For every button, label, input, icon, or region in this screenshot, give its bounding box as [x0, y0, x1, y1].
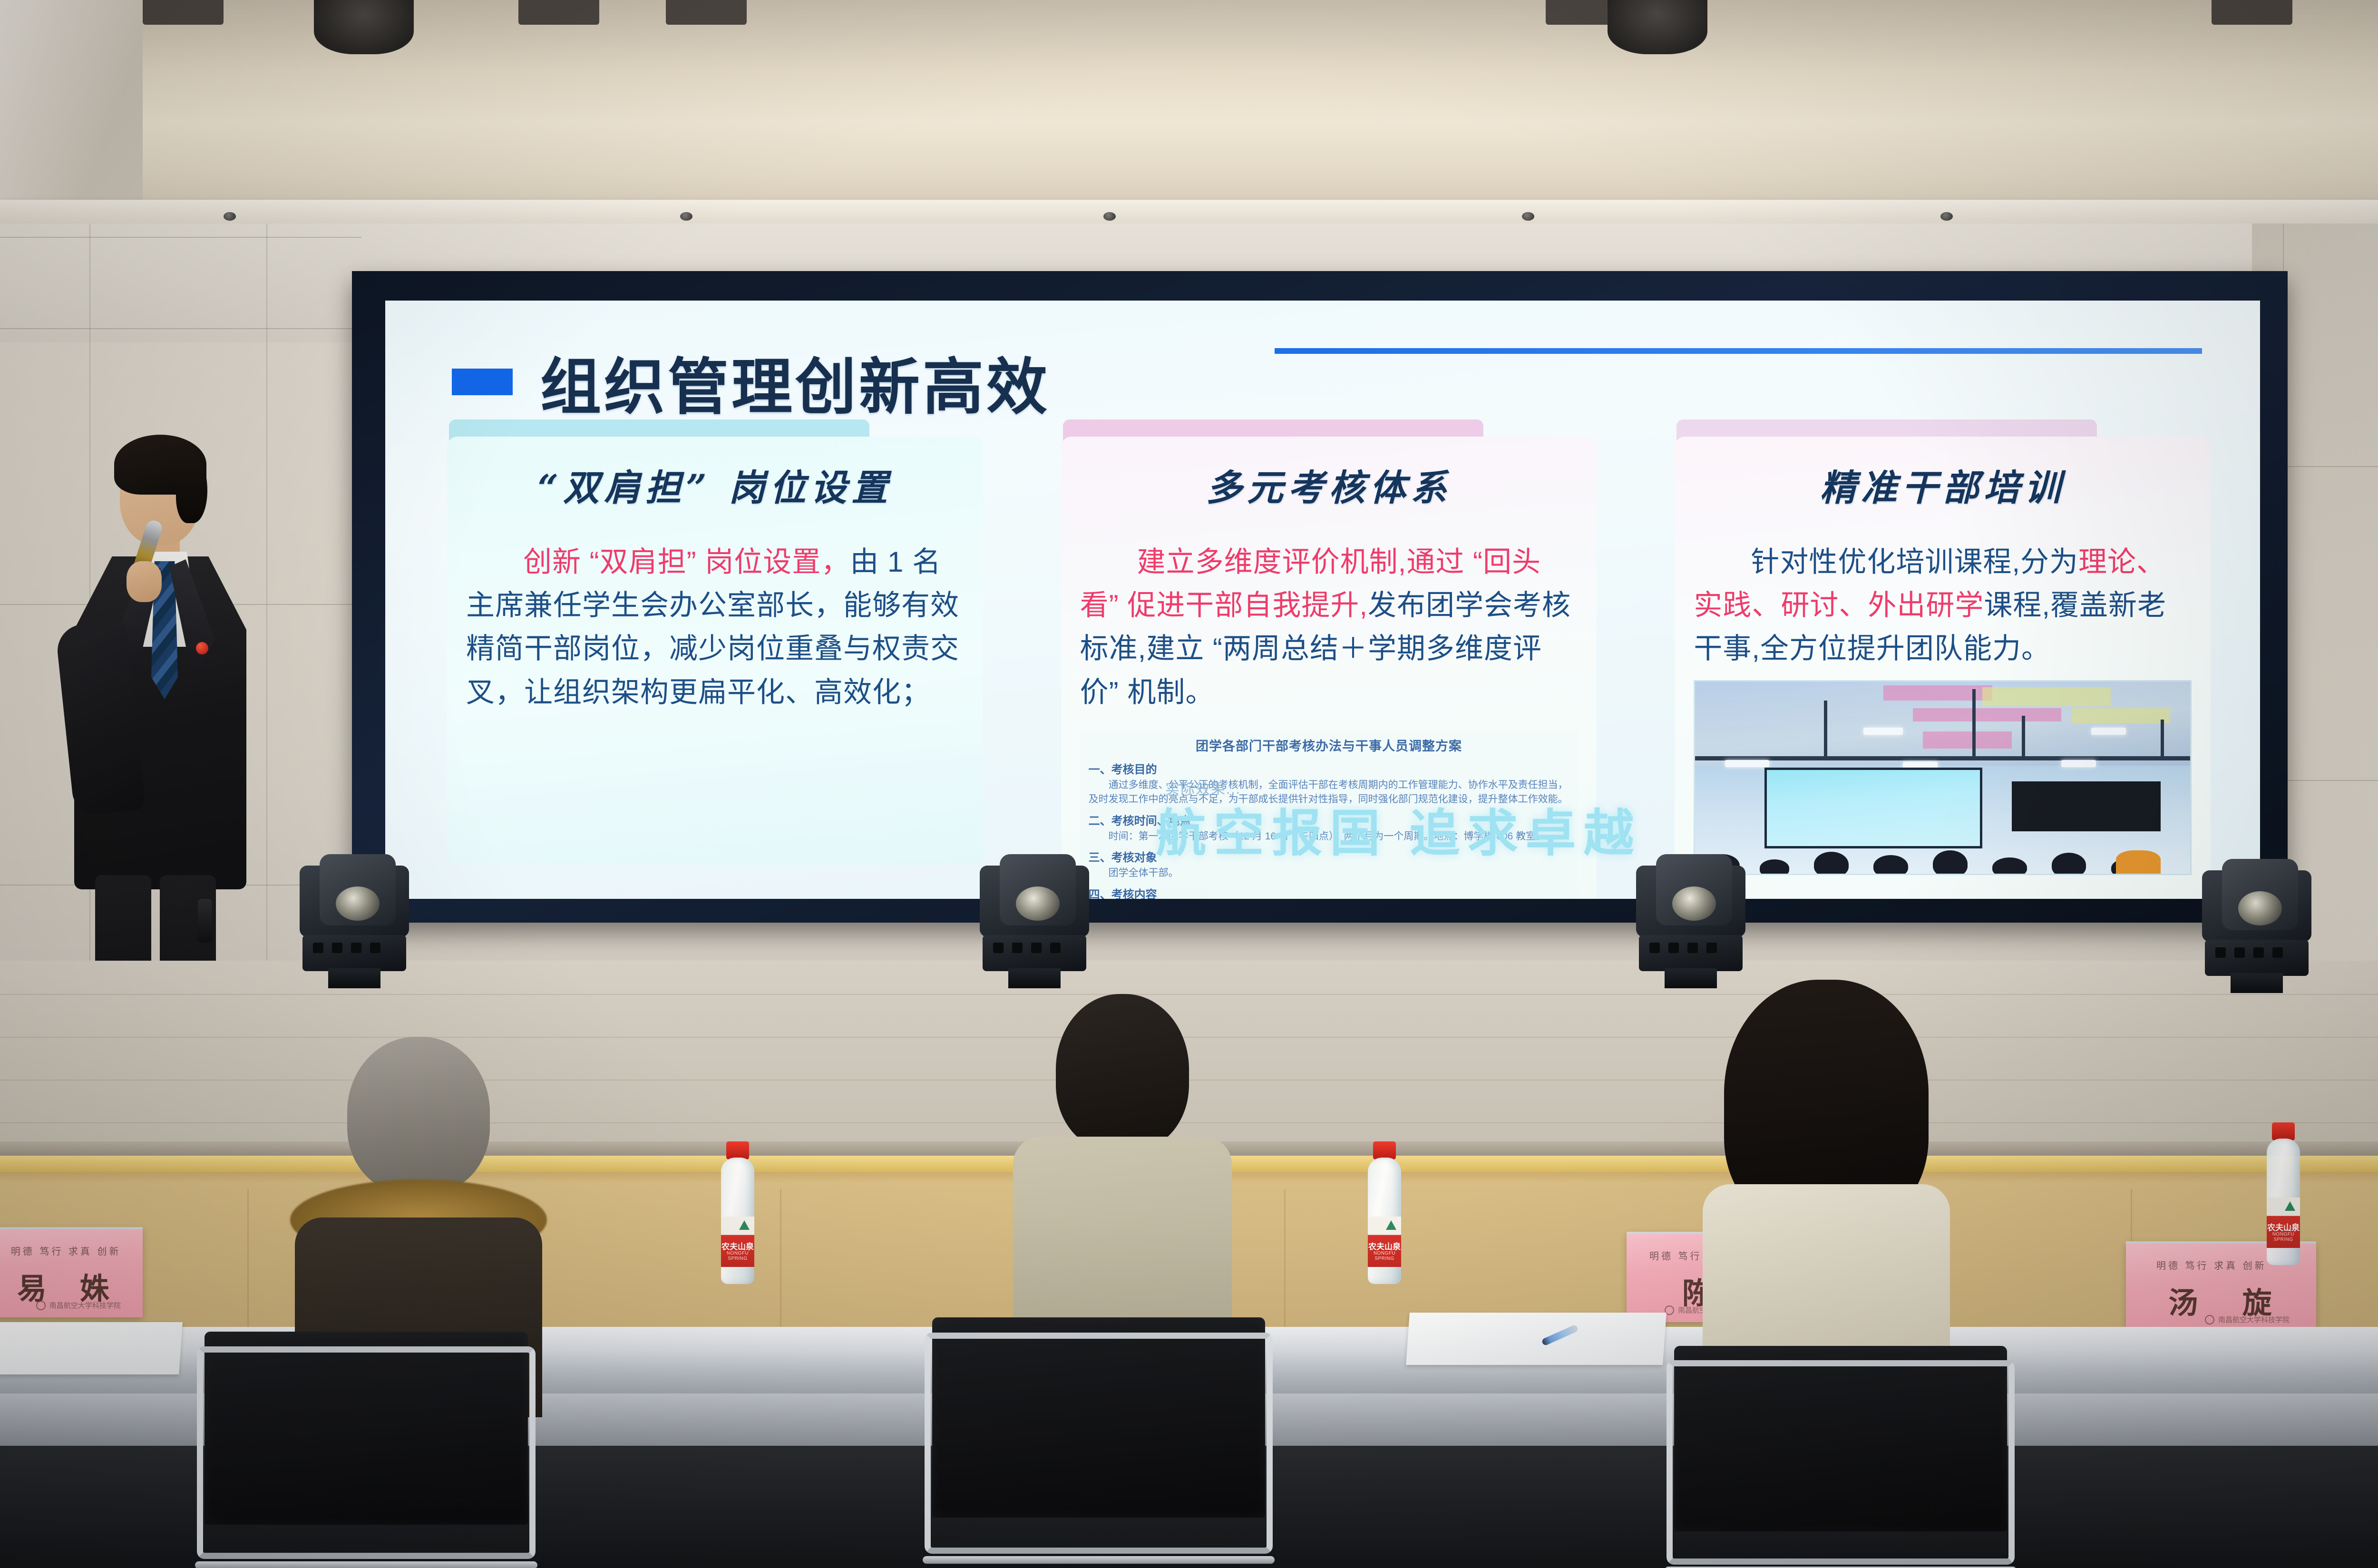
light-vent — [370, 943, 380, 953]
slide-title: 组织管理创新高效 — [540, 338, 1050, 426]
wood-grain — [247, 1189, 249, 1327]
light-base — [2205, 940, 2309, 976]
light-vent — [313, 943, 323, 953]
photo-ceiling-pipe — [2022, 716, 2025, 758]
bottle-cap — [726, 1141, 749, 1159]
wall-seam — [266, 224, 267, 965]
light-lens-icon — [2238, 891, 2282, 925]
light-base — [1639, 935, 1743, 971]
stage-light-2 — [975, 847, 1094, 989]
bottle-brand: 农夫山泉 — [2267, 1221, 2300, 1233]
chair-1[interactable] — [205, 1332, 528, 1568]
photo-head — [1992, 857, 2027, 875]
bottle-brand: 农夫山泉 — [1368, 1240, 1401, 1252]
slide-title-row: 组织管理创新高效 — [452, 338, 1050, 426]
spare-microphone-icon — [198, 899, 212, 943]
bottle-cap — [1373, 1141, 1396, 1159]
photo-ceiling-panel — [2071, 708, 2170, 723]
recessed-downlight-icon — [1103, 212, 1116, 221]
slide-card-3: 精准干部培训 针对性优化培训课程,分为理论、实践、研讨、外出研学课程,覆盖新老干… — [1658, 419, 2227, 899]
photo-fluorescent-tube — [2061, 760, 2096, 767]
water-bottle-3: 农夫山泉 NONGFU SPRING — [2264, 1122, 2303, 1265]
light-vent — [2272, 947, 2283, 958]
chair-3[interactable] — [1674, 1346, 2007, 1568]
wall-seam — [0, 328, 361, 329]
document-section-body: 团学全体干部。 — [1089, 866, 1569, 880]
square-bullet-icon — [452, 369, 513, 395]
light-vent — [332, 943, 342, 953]
wood-grain — [1284, 1189, 1286, 1327]
card-2-heading: 多元考核体系 — [1080, 458, 1578, 511]
nameplate-motto: 明德 笃行 求真 创新 — [11, 1244, 121, 1257]
chair-frame — [925, 1333, 1273, 1553]
photo-ceiling-panel — [1883, 685, 1992, 701]
card-3-text: 针对性优化培训课程,分为理论、实践、研讨、外出研学课程,覆盖新老干事,全方位提升… — [1694, 540, 2192, 671]
ceiling-track-block — [143, 0, 224, 25]
audience-member-3 — [1703, 980, 1950, 1408]
classroom-photo — [1694, 680, 2192, 875]
bottle-brand-en: NONGFU SPRING — [721, 1251, 754, 1261]
nameplate-char: 汤 — [2168, 1279, 2200, 1322]
card-1-heading: “双肩担” 岗位设置 — [466, 458, 964, 511]
light-lens-icon — [1016, 886, 1060, 921]
presenter-hand — [127, 561, 162, 602]
bottle-brand: 农夫山泉 — [721, 1240, 754, 1252]
light-base — [983, 935, 1086, 971]
party-pin-icon — [196, 642, 208, 654]
nameplate-1: 明德 笃行 求真 创新 易 姝 南昌航空大学科技学院 — [0, 1227, 143, 1317]
photo-blackboard — [2012, 781, 2160, 831]
photo-orange-jacket — [2116, 850, 2161, 873]
university-logo-icon — [2205, 1315, 2214, 1325]
ceiling-light-fixture — [1608, 0, 1707, 54]
light-vent — [2234, 947, 2245, 958]
recessed-downlight-icon — [224, 212, 236, 221]
recessed-downlight-icon — [1940, 212, 1953, 221]
light-vent — [1649, 943, 1660, 953]
photo-ceiling-pipe — [1972, 689, 1976, 758]
bottle-brand-en: NONGFU SPRING — [2267, 1232, 2300, 1242]
light-base — [302, 935, 406, 971]
card-2-text: 建立多维度评价机制,通过 “回头看” 促进干部自我提升,发布团学会考核标准,建立… — [1080, 540, 1578, 714]
photo-ceiling-panel — [1923, 731, 2012, 749]
light-vent — [1668, 943, 1679, 953]
photo-ceiling-panel — [1982, 687, 2111, 706]
chair-2[interactable] — [932, 1317, 1265, 1568]
photo-ceiling-pipe — [2161, 720, 2164, 758]
bottle-brand-en: NONGFU SPRING — [1368, 1251, 1401, 1261]
photo-head — [1814, 852, 1849, 875]
chair-frame — [197, 1346, 536, 1559]
photo-fluorescent-tube — [2091, 728, 2126, 735]
light-stand — [2231, 973, 2283, 993]
card-1-text: 创新 “双肩担” 岗位设置，由 1 名主席兼任学生会办公室部长，能够有效精简干部… — [466, 540, 964, 714]
light-stand — [328, 968, 380, 988]
card-3-heading: 精准干部培训 — [1694, 458, 2192, 511]
photo-head — [1933, 850, 1968, 875]
university-logo-icon — [36, 1301, 46, 1310]
wall-seam — [0, 237, 361, 238]
recessed-downlight-icon — [680, 212, 692, 221]
ceiling-track-block — [666, 0, 747, 25]
document-title: 团学各部门干部考核办法与干事人员调整方案 — [1089, 736, 1569, 754]
stage-light-1 — [295, 847, 414, 989]
paper-sheet — [0, 1322, 183, 1374]
nameplate-org-text: 南昌航空大学科技学院 — [2218, 1315, 2290, 1325]
photo-head — [1760, 859, 1789, 875]
card-1-highlight: 创新 “双肩担” 岗位设置， — [523, 546, 850, 578]
bottle-mountain-icon — [739, 1220, 750, 1230]
bottle-mountain-icon — [2285, 1201, 2295, 1211]
nameplate-motto: 明德 笃行 求真 创新 — [2156, 1258, 2267, 1272]
ceiling-track-block — [518, 0, 599, 25]
bottle-cap — [2272, 1122, 2295, 1140]
light-vent — [993, 943, 1004, 953]
nameplate-org-text: 南昌航空大学科技学院 — [49, 1300, 121, 1310]
light-vent — [1687, 943, 1698, 953]
bottle-mountain-icon — [1386, 1220, 1396, 1230]
photo-ceiling-pipe — [1824, 701, 1827, 758]
chair-frame — [1667, 1360, 2015, 1565]
ceiling-track-block — [2212, 0, 2292, 25]
light-vent — [1012, 943, 1023, 953]
wall-seam — [2278, 466, 2378, 467]
chair-crossbar — [923, 1556, 1275, 1564]
wall-seam — [2278, 780, 2378, 781]
light-vent — [2253, 947, 2264, 958]
photo-head — [2052, 853, 2086, 875]
wood-grain — [780, 1189, 781, 1327]
document-section-heading: 一、考核目的 — [1089, 760, 1569, 777]
presentation-slide[interactable]: 组织管理创新高效 “双肩担” 岗位设置 创新 “双肩担” 岗位设置，由 1 名主… — [385, 301, 2260, 899]
light-vent — [1050, 943, 1061, 953]
photo-head — [1873, 855, 1908, 875]
chair-crossbar — [195, 1561, 537, 1568]
photo-ceiling-pipe — [1695, 756, 2190, 760]
ceiling-light-fixture — [314, 0, 414, 54]
audience-head — [347, 1037, 490, 1194]
photo-fluorescent-tube — [1863, 728, 1903, 735]
recessed-downlight-icon — [1522, 212, 1534, 221]
paper-sheet — [1406, 1313, 1667, 1365]
light-lens-icon — [1672, 886, 1716, 921]
water-bottle-1: 农夫山泉 NONGFU SPRING — [718, 1141, 757, 1284]
title-underline-rule — [1275, 348, 2202, 354]
slide-slogan: 航空报国 追求卓越 — [1156, 792, 1641, 866]
light-vent — [1031, 943, 1042, 953]
card-3-lead: 针对性优化培训课程,分为 — [1751, 546, 2078, 578]
audience-head — [1056, 994, 1189, 1151]
ceiling-left-wedge — [0, 0, 143, 224]
card-body: “双肩担” 岗位设置 创新 “双肩担” 岗位设置，由 1 名主席兼任学生会办公室… — [447, 437, 983, 865]
light-vent — [1706, 943, 1717, 953]
nameplate-org: 南昌航空大学科技学院 — [2205, 1315, 2290, 1325]
photo-fluorescent-tube — [1725, 760, 1770, 767]
led-display-bezel: 组织管理创新高效 “双肩担” 岗位设置 创新 “双肩担” 岗位设置，由 1 名主… — [352, 271, 2288, 923]
light-stand — [1008, 968, 1061, 988]
photo-ceiling-panel — [1913, 708, 2061, 721]
nameplate-org: 南昌航空大学科技学院 — [36, 1300, 121, 1310]
card-body: 精准干部培训 针对性优化培训课程,分为理论、实践、研讨、外出研学课程,覆盖新老干… — [1675, 437, 2211, 899]
slide-card-1: “双肩担” 岗位设置 创新 “双肩担” 岗位设置，由 1 名主席兼任学生会办公室… — [431, 419, 999, 899]
document-section-heading: 四、考核内容 — [1089, 885, 1569, 899]
stage-light-3 — [1631, 847, 1750, 989]
auditorium-scene: 组织管理创新高效 “双肩担” 岗位设置 创新 “双肩担” 岗位设置，由 1 名主… — [0, 0, 2378, 1568]
light-lens-icon — [336, 886, 380, 921]
light-vent — [2215, 947, 2226, 958]
water-bottle-2: 农夫山泉 NONGFU SPRING — [1365, 1141, 1404, 1284]
stage-light-4 — [2197, 851, 2316, 994]
light-vent — [351, 943, 361, 953]
